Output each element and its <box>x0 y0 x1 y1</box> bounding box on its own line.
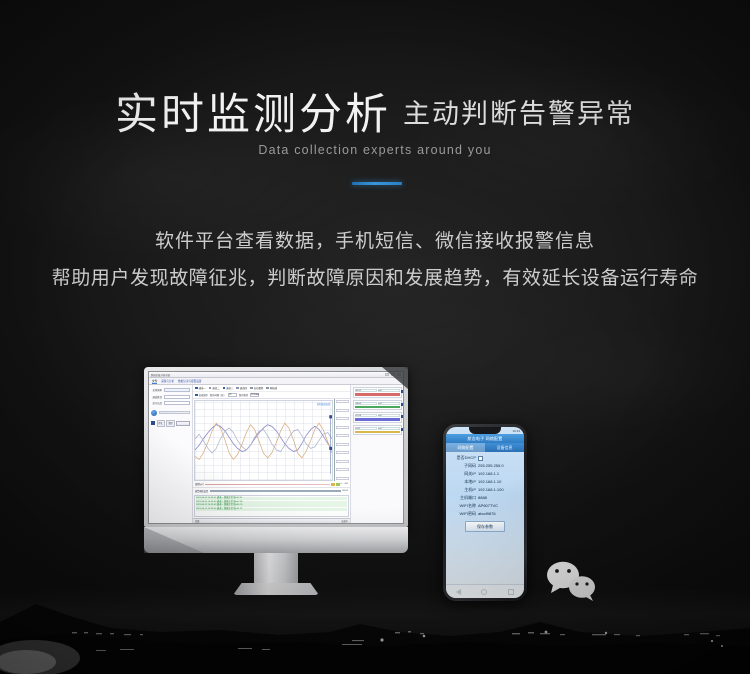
channel-card-4[interactable]: 9.63 mV <box>353 425 402 436</box>
wechat-icon <box>541 558 603 604</box>
checkbox-channel-2[interactable]: 通道二 <box>209 386 220 390</box>
phone-status-time: 10:23 <box>512 429 520 433</box>
field-sample-rate-label: 采样频率 <box>151 388 162 392</box>
y-tick <box>336 434 349 437</box>
monitor-stand-base <box>233 583 319 595</box>
y-tick <box>336 451 349 454</box>
channel-1-readout: 32.41 mV <box>355 389 400 392</box>
waveform-chart[interactable]: 实时波形曲线 <box>194 400 333 481</box>
checkbox-icon <box>250 387 253 390</box>
tagline: Data collection experts around you <box>0 143 750 157</box>
chart-series-layer <box>195 401 332 480</box>
title-main: 实时监测分析 <box>115 91 391 139</box>
action-button-row[interactable]: 停止 清空 <box>151 420 190 427</box>
y-tick <box>336 477 349 480</box>
phone-row-wifi-password-label: WIFI密码 <box>449 510 476 518</box>
channel-4-led-icon <box>401 428 404 431</box>
save-data-button[interactable] <box>176 421 190 426</box>
checkbox-icon <box>195 394 198 397</box>
y-tick <box>336 460 349 463</box>
status-right: 连接中 <box>341 519 348 523</box>
y-tick <box>336 443 349 446</box>
channel-card-2[interactable]: 18.05 mV <box>353 400 402 411</box>
desktop-monitor: 数据采集分析系统 文件 采集与分析 数据记录与报警设置 <box>144 367 408 595</box>
start-button[interactable] <box>151 421 155 425</box>
phone-row-subnet-value[interactable]: 255.255.255.0 <box>478 462 521 470</box>
app-status-bar: 就绪 连接中 <box>193 518 350 523</box>
channel-3-value: 47.08 <box>355 414 377 417</box>
checkbox-gridlines-label: 网格线 <box>270 386 277 390</box>
channel-1-bar <box>355 393 400 395</box>
right-channel-panel: 32.41 mV 18.05 mV <box>351 385 403 523</box>
minimize-icon[interactable] <box>385 373 389 376</box>
tab-record-alarm[interactable]: 数据记录与报警设置 <box>178 379 201 383</box>
checkbox-icon <box>195 387 198 390</box>
field-channel-count[interactable]: 通道数目 <box>151 395 190 399</box>
channel-2-readout: 18.05 mV <box>355 402 400 405</box>
monitor-chin <box>144 527 408 553</box>
y-tick <box>336 468 349 471</box>
back-icon[interactable] <box>456 589 461 595</box>
recents-icon[interactable] <box>508 589 514 595</box>
description-line-2: 帮助用户发现故障征兆，判断故障原因和发展趋势，有效延长设备运行寿命 <box>0 263 750 290</box>
field-display-length-input[interactable] <box>164 401 191 405</box>
phone-row-local-ip-label: 本地IP <box>449 478 476 486</box>
checkbox-auto-range[interactable]: 自动量程 <box>250 386 263 390</box>
phone-row-wifi-ssid-label: WIFI名称 <box>449 502 476 510</box>
monitor-screen: 数据采集分析系统 文件 采集与分析 数据记录与报警设置 <box>148 371 404 524</box>
channel-2-bar <box>355 406 400 408</box>
channel-2-led-icon <box>401 403 404 406</box>
status-left: 就绪 <box>195 519 199 523</box>
window-controls[interactable] <box>385 373 401 376</box>
phone-row-wifi-ssid-value[interactable]: AP607TVC <box>478 502 521 510</box>
page-stage: 实时监测分析主动判断告警异常 Data collection experts a… <box>0 0 750 674</box>
monitor-stand-neck <box>254 553 298 583</box>
channel-2-value: 18.05 <box>355 402 377 405</box>
channel-4-readout: 9.63 mV <box>355 427 400 430</box>
phone-notch <box>469 427 501 434</box>
channel-3-led-icon <box>401 415 404 418</box>
field-sample-rate[interactable]: 采样频率 <box>151 388 190 392</box>
channel-card-3[interactable]: 47.08 mV <box>353 412 402 423</box>
cityscape-silhouette <box>0 588 750 674</box>
phone-row-gateway[interactable]: 网关IP 192.168.1.1 <box>449 470 521 478</box>
clear-button[interactable]: 清空 <box>166 420 174 427</box>
alarm-threshold-slider[interactable] <box>210 490 340 493</box>
home-icon[interactable] <box>481 589 487 595</box>
channel-2-unit: mV <box>378 402 400 405</box>
checkbox-icon <box>266 387 269 390</box>
phone-screen: 10:23 航志电子 网络配置 网络配置 设备信息 是否DHCP 子网码 255… <box>446 427 524 598</box>
channel-3-readout: 47.08 mV <box>355 414 400 417</box>
monitor-bezel: 数据采集分析系统 文件 采集与分析 数据记录与报警设置 <box>144 367 408 527</box>
phone-row-subnet-label: 子网码 <box>449 462 476 470</box>
auto-save-label: 自动保存 <box>199 393 208 397</box>
save-interval-label: 保存间隔（秒） <box>210 393 226 397</box>
series-channel-3 <box>195 428 332 453</box>
center-chart-panel: 通道一 通道二 通道三 通道四 自动量程 网格线 自动保存 保存间隔（秒） 10 <box>193 385 351 523</box>
dhcp-checkbox[interactable] <box>478 456 483 461</box>
alarm-threshold-row[interactable]: 报警阈值设置 80.00 <box>193 487 350 494</box>
checkbox-icon <box>223 387 226 390</box>
save-path-input[interactable]: D:\Data <box>250 393 259 396</box>
phone-row-host-port-label: 主机端口 <box>449 494 476 502</box>
app-body: 采样频率 通道数目 显示长度 <box>149 385 403 523</box>
field-display-length-label: 显示长度 <box>151 401 162 405</box>
checkbox-icon <box>209 387 212 390</box>
phone-tab-network-config[interactable]: 网络配置 <box>446 443 485 452</box>
field-channel-count-input[interactable] <box>164 395 191 399</box>
log-line: 2021-08-12 10:23:44 通道三 数据正常 值=51.22 <box>196 508 347 511</box>
alarm-threshold-label: 报警阈值设置 <box>195 489 208 493</box>
app-window-title: 数据采集分析系统 <box>151 373 170 377</box>
range-knob[interactable] <box>151 410 157 416</box>
phone-row-host-ip-value[interactable]: 192.168.1.100 <box>478 486 521 494</box>
page-title: 实时监测分析主动判断告警异常 <box>0 80 750 142</box>
tab-acquisition[interactable]: 采集与分析 <box>161 379 174 383</box>
y-tick <box>336 417 349 420</box>
phone-config-list: 是否DHCP 子网码 255.255.255.0 网关IP 192.168.1.… <box>446 452 524 532</box>
checkbox-channel-1-label: 通道一 <box>199 386 206 390</box>
checkbox-channel-4-label: 通道四 <box>240 386 247 390</box>
y-tick <box>336 426 349 429</box>
phone-tab-device-info[interactable]: 设备信息 <box>485 443 524 452</box>
channel-1-led-icon <box>401 390 404 393</box>
phone-row-wifi-password-value[interactable]: abcd9876 <box>478 510 521 518</box>
tab-file[interactable]: 文件 <box>152 379 157 384</box>
phone-row-host-port[interactable]: 主机端口 8888 <box>449 494 521 502</box>
y-tick <box>336 409 349 412</box>
smartphone: 10:23 航志电子 网络配置 网络配置 设备信息 是否DHCP 子网码 255… <box>443 424 527 601</box>
phone-row-host-ip-label: 主机IP <box>449 486 476 494</box>
chart-y-axis-scale <box>334 399 350 481</box>
checkbox-channel-3[interactable]: 通道三 <box>223 386 234 390</box>
channel-card-1[interactable]: 32.41 mV <box>353 387 402 398</box>
app-tab-bar[interactable]: 文件 采集与分析 数据记录与报警设置 <box>149 378 403 385</box>
save-interval-input[interactable]: 10 <box>228 393 237 396</box>
range-adjust-row[interactable] <box>151 410 190 416</box>
field-channel-count-label: 通道数目 <box>151 395 162 399</box>
channel-4-unit: mV <box>378 427 400 430</box>
checkbox-channel-4[interactable]: 通道四 <box>236 386 247 390</box>
event-log[interactable]: 2021-08-12 10:23:41 通道一 数据正常 值=32.41 202… <box>194 495 349 517</box>
close-icon[interactable] <box>397 373 401 376</box>
night-cityscape <box>0 588 750 674</box>
channel-3-unit: mV <box>378 414 400 417</box>
stop-button[interactable]: 停止 <box>157 420 165 427</box>
range-slider[interactable] <box>159 411 190 414</box>
save-path-label: 保存路径 <box>239 393 248 397</box>
accent-divider <box>352 182 402 185</box>
plot-wrapper: 实时波形曲线 <box>193 399 350 481</box>
phone-row-host-port-value[interactable]: 8888 <box>478 494 521 502</box>
channel-4-bar <box>355 431 400 433</box>
checkbox-gridlines[interactable]: 网格线 <box>266 386 277 390</box>
checkbox-channel-2-label: 通道二 <box>212 386 219 390</box>
phone-row-host-ip[interactable]: 主机IP 192.168.1.100 <box>449 486 521 494</box>
phone-row-gateway-value[interactable]: 192.168.1.1 <box>478 470 521 478</box>
scale-swatch-a <box>331 483 335 486</box>
phone-row-wifi-ssid[interactable]: WIFI名称 AP607TVC <box>449 502 521 510</box>
phone-save-button[interactable]: 保存参数 <box>465 521 505 532</box>
description-line-1: 软件平台查看数据，手机短信、微信接收报警信息 <box>0 226 750 253</box>
scale-value: 0 ~ 100 <box>341 483 348 485</box>
scale-track[interactable] <box>205 484 330 485</box>
y-tick <box>336 400 349 403</box>
field-display-length[interactable]: 显示长度 <box>151 401 190 405</box>
alarm-threshold-value: 80.00 <box>343 490 348 492</box>
chart-badge: 实时波形曲线 <box>317 402 330 406</box>
checkbox-channel-3-label: 通道三 <box>226 386 233 390</box>
channel-1-unit: mV <box>378 389 400 392</box>
left-settings-panel: 采样频率 通道数目 显示长度 <box>149 385 193 523</box>
phone-app-title: 航志电子 网络配置 <box>446 434 524 443</box>
scale-label: 量程标尺 <box>195 482 204 486</box>
phone-row-gateway-label: 网关IP <box>449 470 476 478</box>
phone-row-local-ip-value[interactable]: 192.168.1.10 <box>478 478 521 486</box>
phone-row-dhcp[interactable]: 是否DHCP <box>449 454 521 462</box>
checkbox-icon <box>236 387 239 390</box>
channel-4-value: 9.63 <box>355 427 377 430</box>
channel-1-value: 32.41 <box>355 389 377 392</box>
field-sample-rate-input[interactable] <box>164 388 191 392</box>
maximize-icon[interactable] <box>391 373 395 376</box>
channel-checkbox-row[interactable]: 通道一 通道二 通道三 通道四 自动量程 网格线 <box>193 385 350 392</box>
phone-nav-bar[interactable] <box>446 584 524 598</box>
wechat-logo <box>541 558 603 604</box>
checkbox-channel-1[interactable]: 通道一 <box>195 386 206 390</box>
autosave-options-row[interactable]: 自动保存 保存间隔（秒） 10 保存路径 D:\Data <box>193 392 350 399</box>
phone-row-wifi-password[interactable]: WIFI密码 abcd9876 <box>449 510 521 518</box>
phone-tab-bar[interactable]: 网络配置 设备信息 <box>446 443 524 452</box>
phone-row-dhcp-label: 是否DHCP <box>449 454 476 462</box>
checkbox-auto-range-label: 自动量程 <box>254 386 264 390</box>
phone-row-subnet[interactable]: 子网码 255.255.255.0 <box>449 462 521 470</box>
channel-3-bar <box>355 418 400 420</box>
title-sub: 主动判断告警异常 <box>403 99 635 129</box>
scale-swatch-b <box>336 483 340 486</box>
checkbox-auto-save[interactable]: 自动保存 <box>195 393 208 397</box>
acquisition-software: 数据采集分析系统 文件 采集与分析 数据记录与报警设置 <box>149 372 403 523</box>
phone-row-local-ip[interactable]: 本地IP 192.168.1.10 <box>449 478 521 486</box>
